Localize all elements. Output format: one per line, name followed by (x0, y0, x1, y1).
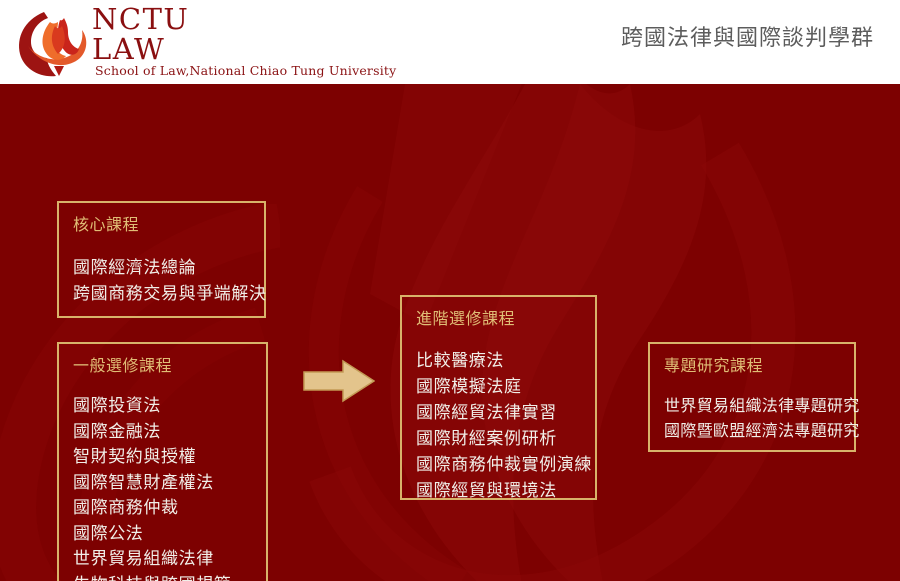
panel-general-title: 一般選修課程 (73, 355, 252, 377)
panel-advanced-title: 進階選修課程 (416, 308, 581, 330)
course-item: 生物科技與跨國規範 (73, 573, 252, 581)
panel-seminar-research-courses: 專題研究課程 世界貿易組織法律專題研究 國際暨歐盟經濟法專題研究 (648, 342, 856, 452)
course-item: 國際財經案例研析 (416, 426, 581, 452)
panel-general-elective-courses: 一般選修課程 國際投資法 國際金融法 智財契約與授權 國際智慧財產權法 國際商務… (57, 342, 268, 581)
logo-wordmark: NCTU LAW (92, 4, 189, 65)
arrow-right-icon (303, 359, 375, 403)
page-header: NCTU LAW School of Law,National Chiao Tu… (0, 0, 900, 84)
course-item: 智財契約與授權 (73, 445, 252, 471)
course-item: 比較醫療法 (416, 348, 581, 374)
panel-advanced-elective-courses: 進階選修課程 比較醫療法 國際模擬法庭 國際經貿法律實習 國際財經案例研析 國際… (400, 295, 597, 500)
logo-line-law: LAW (92, 34, 189, 65)
logo-subtitle: School of Law,National Chiao Tung Univer… (95, 63, 396, 78)
logo-line-nctu: NCTU (92, 4, 189, 34)
course-item: 國際投資法 (73, 394, 252, 420)
course-item: 國際商務仲裁 (73, 496, 252, 522)
course-item: 國際經濟法總論 (73, 255, 250, 281)
course-item: 世界貿易組織法律專題研究 (664, 393, 840, 418)
slide-body-background: 核心課程 國際經濟法總論 跨國商務交易與爭端解決 一般選修課程 國際投資法 國際… (0, 84, 900, 581)
course-item: 國際公法 (73, 522, 252, 548)
page-title: 跨國法律與國際談判學群 (621, 20, 874, 52)
course-item: 國際智慧財產權法 (73, 471, 252, 497)
course-item: 跨國商務交易與爭端解決 (73, 281, 250, 307)
panel-core-title: 核心課程 (73, 214, 250, 236)
panel-core-courses: 核心課程 國際經濟法總論 跨國商務交易與爭端解決 (57, 201, 266, 318)
course-item: 國際經貿法律實習 (416, 400, 581, 426)
course-item: 國際商務仲裁實例演練 (416, 452, 581, 478)
course-item: 國際暨歐盟經濟法專題研究 (664, 418, 840, 443)
slide-root: 核心課程 國際經濟法總論 跨國商務交易與爭端解決 一般選修課程 國際投資法 國際… (0, 0, 900, 581)
course-item: 國際金融法 (73, 420, 252, 446)
course-item: 世界貿易組織法律 (73, 547, 252, 573)
panel-seminar-title: 專題研究課程 (664, 355, 840, 377)
course-item: 國際模擬法庭 (416, 374, 581, 400)
course-item: 國際經貿與環境法 (416, 478, 581, 504)
nctu-flame-logo-icon (14, 6, 92, 80)
